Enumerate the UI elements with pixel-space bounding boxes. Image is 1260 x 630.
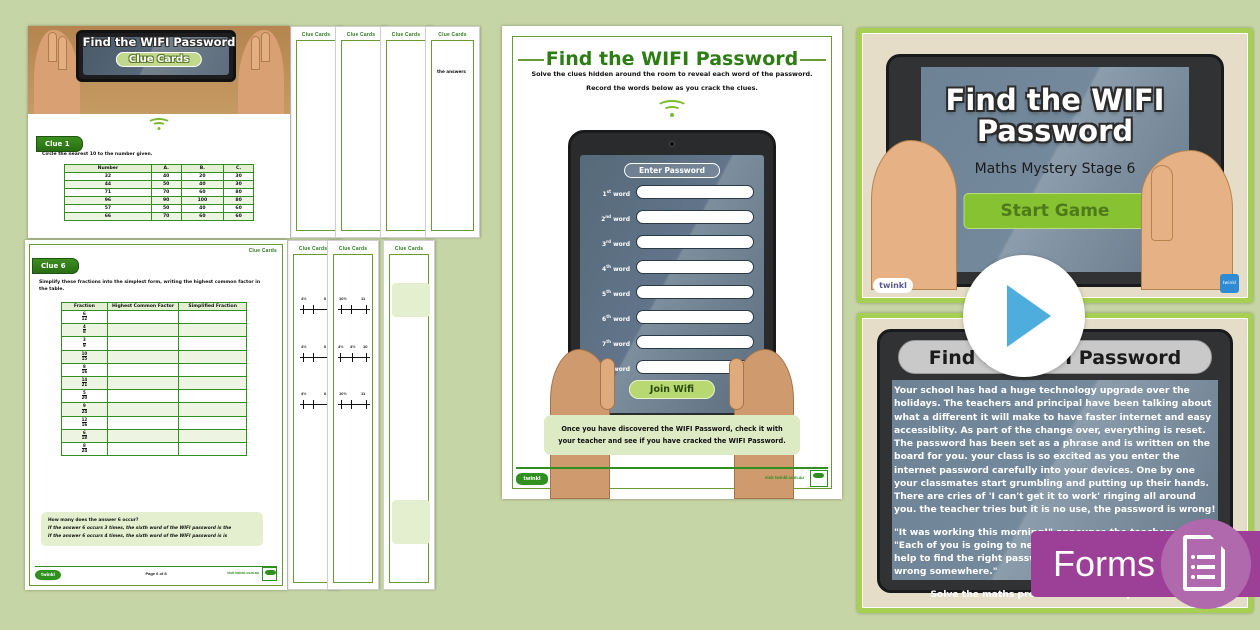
visit-twinkl-badge [810,470,828,487]
number-line-label: 4½ [301,391,307,396]
clue-instruction: Circle the nearest 10 to the number give… [42,152,276,159]
thumbnail-page[interactable]: Clue Cards the answers [425,26,480,238]
partial-answer-text: the answers [437,69,466,74]
camera-dot-icon [669,141,675,147]
slide-background: Find the WIFI Password Maths Mystery Sta… [862,33,1248,298]
story-paragraph: Your school has had a huge technology up… [894,384,1216,517]
table-row: 924 [62,403,247,416]
fraction-cell: 1216 [62,416,108,429]
game-title-slide-panel[interactable]: Find the WIFI Password Maths Mystery Sta… [857,28,1253,303]
hcf-answer-cell[interactable] [107,442,179,455]
visit-twinkl-badge [262,567,277,581]
fraction-cell: 1421 [62,376,108,389]
clue-cards-tag: Clue Cards [249,248,277,254]
forms-icon-circle [1161,519,1251,609]
table-header-cell: Highest Common Factor [107,303,179,311]
password-word-input[interactable] [636,310,754,324]
fraction-cell: 824 [62,442,108,455]
simplified-answer-cell[interactable] [179,442,247,455]
enter-password-button[interactable]: Enter Password [624,163,720,178]
table-row: 1216 [62,416,247,429]
clue6-note: How many does the answer 6 occur? If the… [41,512,263,546]
twinkl-logo: twinkl [516,473,548,485]
number-line-label: 11 [361,391,365,396]
page-title: Find the WIFI Password [502,48,842,70]
table-header-cell: C. [224,165,254,173]
password-word-row: 3rd word [588,235,754,252]
hcf-answer-cell[interactable] [107,337,179,350]
clue-cards-tag: Clue Cards [426,32,479,38]
instruction-line-2: Record the words below as you crack the … [522,84,822,92]
number-line-label: 10 [363,344,367,349]
password-word-label: 5th word [588,289,630,298]
table-row: 39 [62,337,247,350]
fraction-cell: 816 [62,363,108,376]
hcf-answer-cell[interactable] [107,416,179,429]
hcf-answer-cell[interactable] [107,350,179,363]
simplified-answer-cell[interactable] [179,429,247,442]
number-line-label: 4½ [338,344,344,349]
clue-cards-tag: Clue Cards [328,246,378,252]
hcf-answer-cell[interactable] [107,390,179,403]
simplified-answer-cell[interactable] [179,390,247,403]
clue-cards-tag: Clue Cards [336,32,386,38]
table-header-cell: Simplified Fraction [179,303,247,311]
thumbnail-note-fragment [392,500,430,544]
play-button[interactable] [963,255,1085,377]
simplified-answer-cell[interactable] [179,324,247,337]
table-header-row: Fraction Highest Common Factor Simplifie… [62,303,247,311]
simplified-answer-cell[interactable] [179,337,247,350]
table-row: 57504060 [65,205,254,213]
cover-subtitle: Clue Cards [116,52,202,67]
table-header-cell: B. [181,165,224,173]
table-row: 66706060 [65,213,254,221]
twinkl-badge: twinkl [1220,274,1239,293]
clue-cards-cover-sheet[interactable]: Clue Cards Find the WIFI Password Clue C… [28,26,290,238]
table-row: 520 [62,390,247,403]
table-row: 1015 [62,350,247,363]
slide-title-line-2: Password [977,114,1133,148]
closing-note: Once you have discovered the WIFI Passwo… [544,415,800,455]
simplified-answer-cell[interactable] [179,363,247,376]
page-footer: twinkl visit twinkl.com.au [516,467,828,486]
slide-title: Find the WIFI Password [921,85,1189,148]
fraction-cell: 924 [62,403,108,416]
closing-note-line-1: Once you have discovered the WIFI Passwo… [561,425,782,433]
tablet-illustration: Find the WIFI Password Maths Mystery Sta… [886,54,1224,287]
table-row: 44504030 [65,181,254,189]
password-word-input[interactable] [636,285,754,299]
simplified-answer-cell[interactable] [179,311,247,324]
play-triangle-icon [1007,285,1051,347]
note-option-b: If the answer 6 occurs 4 times, the sixt… [48,533,256,541]
twinkl-logo: twinkl [873,278,913,293]
page-border [333,254,373,583]
wifi-icon [146,118,172,132]
fraction-cell: 618 [62,429,108,442]
page-border [341,40,381,231]
hcf-answer-cell[interactable] [107,324,179,337]
page-border [386,40,426,231]
hcf-answer-cell[interactable] [107,376,179,389]
table-row: 969010080 [65,197,254,205]
table-header-cell: A. [151,165,181,173]
simplified-answer-cell[interactable] [179,416,247,429]
site-url: visit twinkl.com.au [227,571,259,575]
password-word-input[interactable] [636,335,754,349]
hand-illustration-left [871,140,957,290]
hcf-answer-cell[interactable] [107,363,179,376]
number-line-label: 6 [324,296,326,301]
clue-cards-tag: Clue Cards [291,32,341,38]
password-word-input[interactable] [636,210,754,224]
number-line-label: 4½ [301,344,307,349]
page-border [296,40,336,231]
simplified-answer-cell[interactable] [179,350,247,363]
join-wifi-button[interactable]: Join Wifi [629,380,715,399]
closing-note-line-2: your teacher and see if you have cracked… [558,437,785,445]
clue6-sheet[interactable]: Clue Cards Clue 6 Simplify these fractio… [25,240,287,590]
password-word-label: 1st word [588,189,630,198]
hcf-answer-cell[interactable] [107,311,179,324]
table-header-cell: Number [65,165,152,173]
number-line-label: 10½ [339,391,347,396]
hcf-answer-cell[interactable] [107,429,179,442]
note-option-a: If the answer 6 occurs 3 times, the sixt… [48,525,256,533]
number-line-label: 4½ [301,296,307,301]
slide-title-line-1: Find the WIFI [946,83,1165,117]
forms-label: Forms [1053,543,1155,585]
password-word-row: 5th word [588,285,754,302]
simplified-answer-cell[interactable] [179,403,247,416]
password-word-row: 1st word [588,185,754,202]
password-word-label: 2nd word [588,214,630,223]
cover-illustration: Find the WIFI Password Clue Cards [28,26,290,114]
hcf-answer-cell[interactable] [107,403,179,416]
password-word-row: 4th word [588,260,754,277]
password-word-row: 7th word [588,335,754,352]
password-word-row: 6th word [588,310,754,327]
wifi-icon [655,100,689,120]
forms-badge[interactable]: Forms [1031,531,1260,597]
clue6-table: Fraction Highest Common Factor Simplifie… [61,302,247,456]
table-row: 612 [62,311,247,324]
table-row: 1421 [62,376,247,389]
number-line-label: 11 [361,296,365,301]
password-word-input[interactable] [636,185,754,199]
table-row: 71706080 [65,189,254,197]
fraction-cell: 520 [62,390,108,403]
clue1-table: Number A. B. C. 32402030 44504030 717060… [64,164,254,221]
number-line-label: 10½ [339,296,347,301]
number-line-label: 4½ [350,344,356,349]
number-line-label: 6 [324,391,326,396]
table-header-cell: Fraction [62,303,108,311]
instruction-line-1: Solve the clues hidden around the room t… [522,70,822,78]
table-row: 48 [62,324,247,337]
note-question: How many does the answer 6 occur? [48,517,256,525]
cover-title: Find the WIFI Password [28,35,290,49]
clue-label: Clue 6 [32,258,79,274]
thumbnail-note-fragment [392,283,430,317]
password-word-label: 7th word [588,339,630,348]
forms-document-icon [1183,535,1225,591]
fraction-cell: 39 [62,337,108,350]
thumbnail-page[interactable]: Clue Cards 10½ 11 4½ 4½ 10 10½ 11 [327,240,379,590]
simplified-answer-cell[interactable] [179,376,247,389]
password-word-row: 2nd word [588,210,754,227]
pointing-finger [1151,165,1173,241]
fraction-cell: 612 [62,311,108,324]
main-worksheet[interactable]: Find the WIFI Password Solve the clues h… [502,26,842,499]
table-row: 618 [62,429,247,442]
table-row: 816 [62,363,247,376]
site-url: visit twinkl.com.au [765,475,804,480]
fraction-cell: 48 [62,324,108,337]
password-word-input[interactable] [636,235,754,249]
fraction-cell: 1015 [62,350,108,363]
table-header-row: Number A. B. C. [65,165,254,173]
resource-pack-preview: Clue Cards Clue Cards Clue Cards Clue Ca… [0,0,1260,630]
number-line-label: 6 [324,344,326,349]
start-game-button[interactable]: Start Game [964,193,1147,229]
table-row: 32402030 [65,173,254,181]
password-word-input[interactable] [636,260,754,274]
password-word-label: 3rd word [588,239,630,248]
password-word-label: 4th word [588,264,630,273]
table-row: 824 [62,442,247,455]
page-footer: twinkl Page 6 of 8 visit twinkl.com.au [35,566,277,580]
password-word-label: 6th word [588,314,630,323]
clue-cards-tag: Clue Cards [381,32,431,38]
clue-instruction: Simplify these fractions into the simple… [39,280,269,294]
clue-label: Clue 1 [36,136,83,152]
clue-cards-tag: Clue Cards [384,246,434,252]
